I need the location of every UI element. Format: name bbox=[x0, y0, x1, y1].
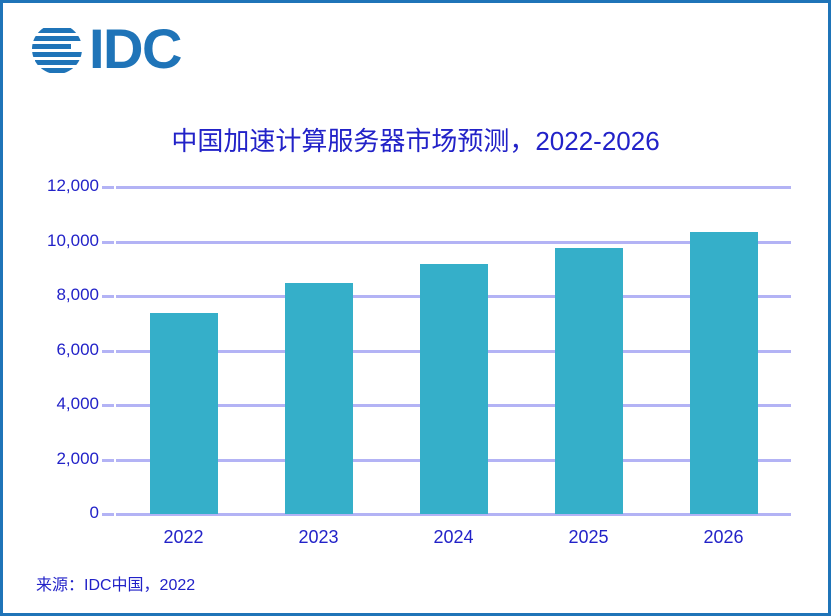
x-axis-tick-label: 2024 bbox=[386, 527, 521, 548]
y-axis-tick-mark bbox=[102, 241, 114, 244]
bar bbox=[285, 283, 353, 514]
gridline bbox=[116, 186, 791, 189]
y-axis-tick-label: 4,000 bbox=[13, 394, 99, 414]
y-axis-tick-label: 2,000 bbox=[13, 449, 99, 469]
y-axis-tick-mark bbox=[102, 513, 114, 516]
y-axis-tick-mark bbox=[102, 295, 114, 298]
bar bbox=[555, 248, 623, 514]
y-axis-tick-mark bbox=[102, 350, 114, 353]
y-axis-tick-label: 6,000 bbox=[13, 340, 99, 360]
y-axis-tick-label: 0 bbox=[13, 503, 99, 523]
x-axis-tick-label: 2025 bbox=[521, 527, 656, 548]
source-note: 来源：IDC中国，2022 bbox=[36, 571, 195, 595]
x-axis-tick-label: 2026 bbox=[656, 527, 791, 548]
plot-area: 02,0004,0006,0008,00010,00012,0002022202… bbox=[3, 3, 831, 616]
x-axis-tick-label: 2023 bbox=[251, 527, 386, 548]
bar bbox=[420, 264, 488, 514]
x-axis-tick-label: 2022 bbox=[116, 527, 251, 548]
y-axis-tick-label: 8,000 bbox=[13, 285, 99, 305]
y-axis-tick-label: 10,000 bbox=[13, 231, 99, 251]
y-axis-tick-mark bbox=[102, 459, 114, 462]
y-axis-tick-mark bbox=[102, 186, 114, 189]
y-axis-tick-label: 12,000 bbox=[13, 176, 99, 196]
bar bbox=[150, 313, 218, 514]
bar bbox=[690, 232, 758, 514]
chart-frame: IDC 中国加速计算服务器市场预测，2022-2026 02,0004,0006… bbox=[0, 0, 831, 616]
y-axis-tick-mark bbox=[102, 404, 114, 407]
